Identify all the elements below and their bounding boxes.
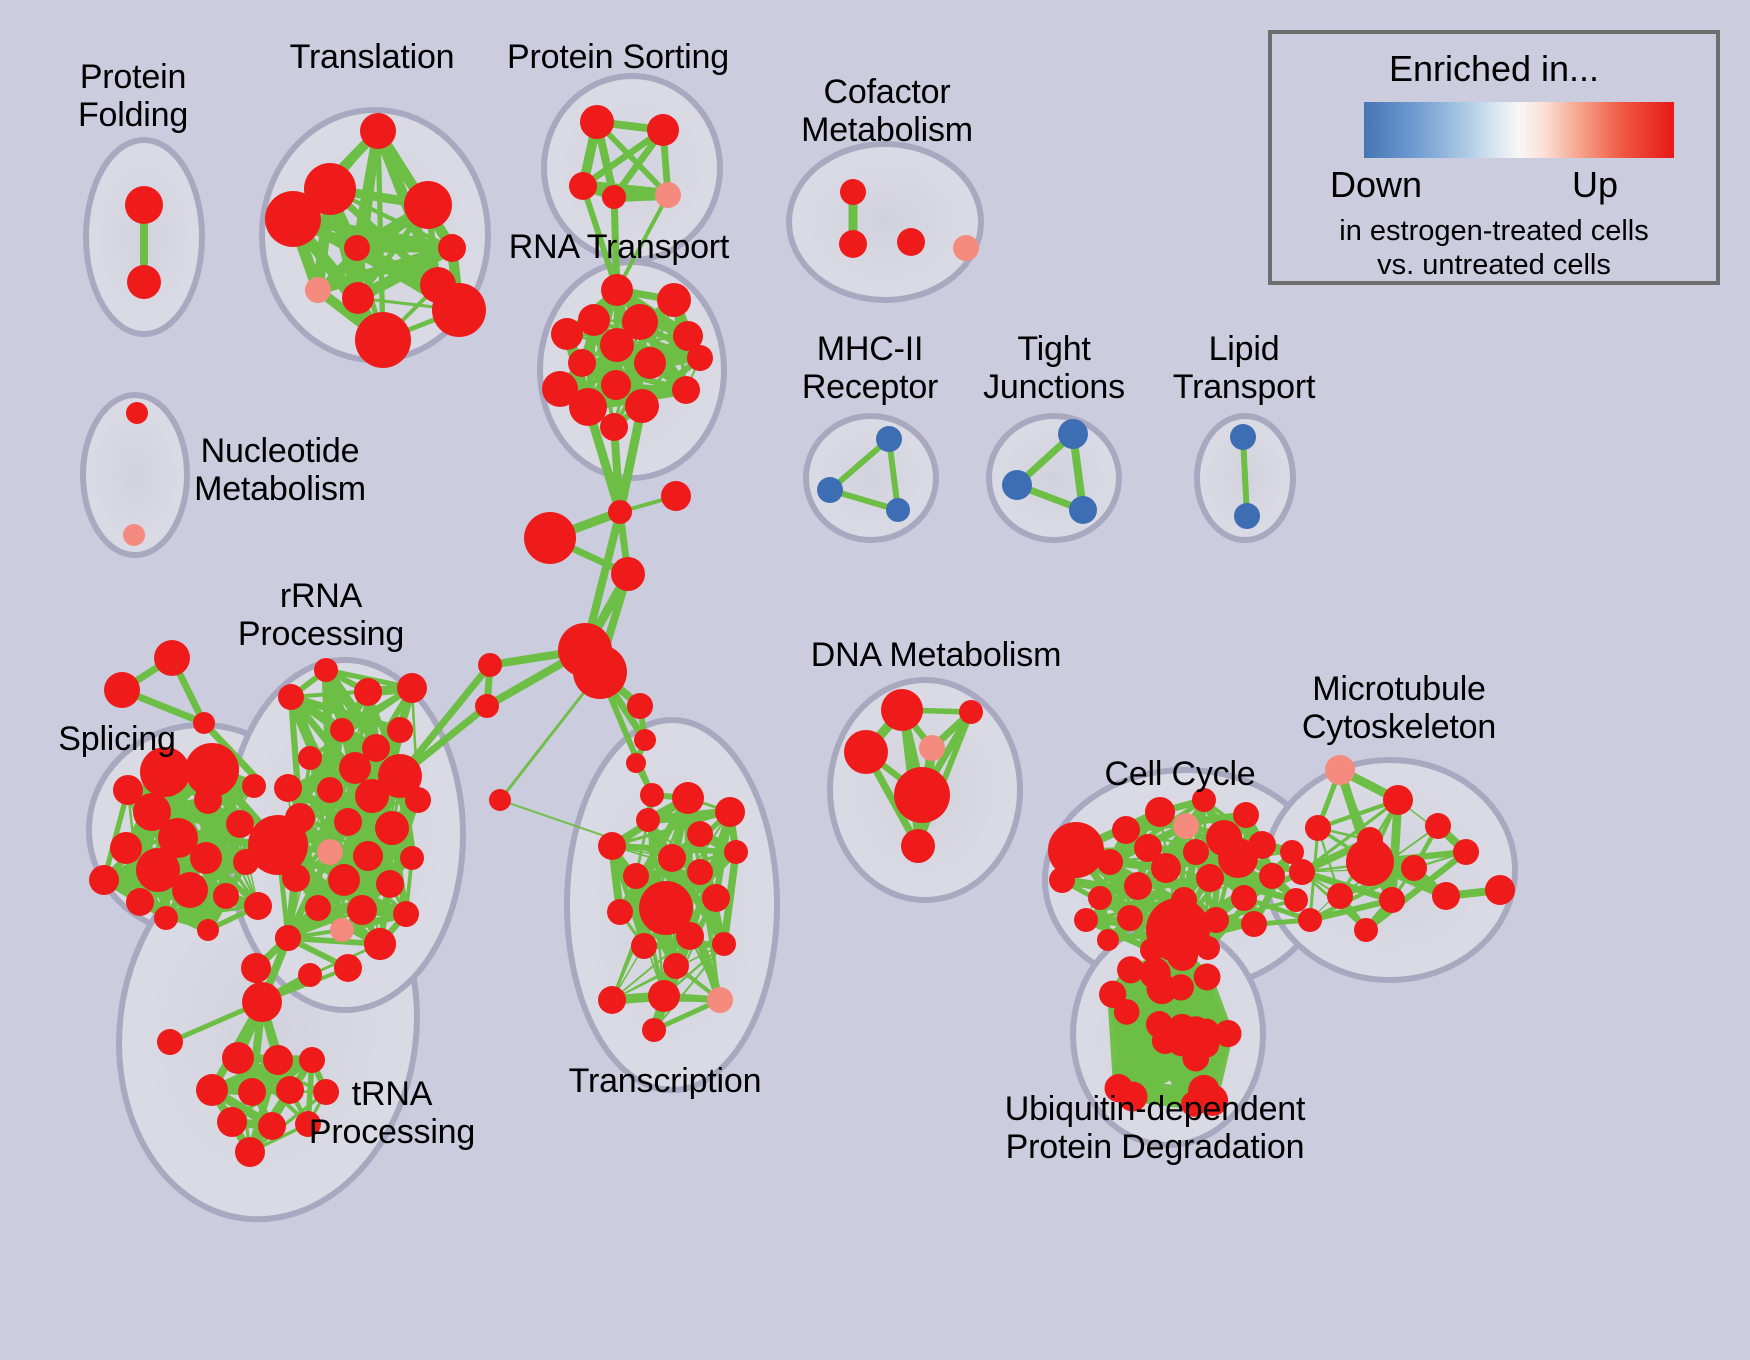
gene-set-node	[687, 345, 713, 371]
gene-set-node	[648, 980, 680, 1012]
gene-set-node	[355, 312, 411, 368]
gene-set-node	[598, 832, 626, 860]
gene-set-node	[244, 892, 272, 920]
gene-set-node	[568, 349, 596, 377]
cluster-label-lipid-transport: Lipid Transport	[1173, 330, 1315, 406]
gene-set-node	[707, 987, 733, 1013]
gene-set-node	[627, 693, 653, 719]
gene-set-node	[601, 370, 631, 400]
gene-set-node	[89, 865, 119, 895]
gene-set-node	[573, 645, 627, 699]
gene-set-node	[919, 735, 945, 761]
gene-set-node	[397, 673, 427, 703]
gene-set-node	[226, 810, 254, 838]
gene-set-node	[897, 228, 925, 256]
gene-set-node	[1327, 883, 1353, 909]
cluster-label-trna-processing: tRNA Processing	[309, 1075, 475, 1151]
gene-set-node	[404, 181, 452, 229]
gene-set-node	[1058, 419, 1088, 449]
gene-set-node	[193, 712, 215, 734]
gene-set-node	[274, 774, 302, 802]
gene-set-node	[1151, 853, 1181, 883]
gene-set-node	[334, 808, 362, 836]
gene-set-node	[154, 906, 178, 930]
legend-up-label: Up	[1572, 164, 1618, 206]
gene-set-node	[661, 481, 691, 511]
cluster-label-protein-folding: Protein Folding	[78, 58, 188, 134]
gene-set-node	[1145, 797, 1175, 827]
gene-set-node	[400, 846, 424, 870]
gene-set-node	[647, 114, 679, 146]
gene-set-node	[817, 477, 843, 503]
gene-set-node	[375, 811, 409, 845]
gene-set-node	[1117, 956, 1144, 983]
gene-set-node	[578, 304, 610, 336]
gene-set-node	[317, 839, 343, 865]
gene-set-node	[1074, 908, 1098, 932]
gene-set-node	[353, 841, 383, 871]
gene-set-node	[658, 844, 686, 872]
cluster-label-nucleotide-metabolism: Nucleotide Metabolism	[194, 432, 366, 508]
gene-set-node	[314, 658, 338, 682]
gene-set-node	[1097, 849, 1123, 875]
gene-set-node	[238, 1078, 266, 1106]
gene-set-node	[364, 928, 396, 960]
cluster-hull-cofactor-metabolism	[789, 144, 981, 300]
cluster-label-cofactor-metabolism: Cofactor Metabolism	[801, 73, 973, 149]
gene-set-node	[687, 859, 713, 885]
gene-set-node	[376, 870, 404, 898]
gene-set-node	[894, 767, 950, 823]
gene-set-node	[241, 953, 271, 983]
gene-set-node	[213, 883, 239, 909]
figure-canvas: Protein FoldingTranslationProtein Sortin…	[0, 0, 1750, 1360]
gene-set-node	[258, 1112, 286, 1140]
gene-set-node	[1289, 859, 1315, 885]
gene-set-node	[901, 829, 935, 863]
gene-set-node	[844, 730, 888, 774]
gene-set-node	[354, 678, 382, 706]
gene-set-node	[1049, 867, 1075, 893]
gene-set-node	[625, 389, 659, 423]
cluster-label-dna-metabolism: DNA Metabolism	[811, 636, 1061, 674]
cluster-label-cell-cycle: Cell Cycle	[1104, 755, 1255, 793]
gene-set-node	[1194, 1019, 1219, 1044]
gene-set-node	[432, 283, 486, 337]
gene-set-node	[360, 113, 396, 149]
gene-set-node	[1167, 940, 1198, 971]
gene-set-node	[580, 105, 614, 139]
gene-set-node	[1346, 838, 1394, 886]
gene-set-node	[1379, 887, 1405, 913]
gene-set-node	[524, 512, 576, 564]
gene-set-node	[1425, 813, 1451, 839]
gene-set-node	[1231, 885, 1257, 911]
gene-set-node	[631, 933, 657, 959]
gene-set-node	[298, 746, 322, 770]
gene-set-node	[1432, 882, 1460, 910]
gene-set-node	[1194, 964, 1221, 991]
legend-box: Enriched in... Down Up in estrogen-treat…	[1268, 30, 1720, 285]
gene-set-node	[569, 388, 607, 426]
gene-set-node	[275, 925, 301, 951]
cluster-label-microtubule-cytoskeleton: Microtubule Cytoskeleton	[1302, 670, 1496, 746]
gene-set-node	[1173, 813, 1199, 839]
gene-set-node	[663, 953, 689, 979]
cluster-label-protein-sorting: Protein Sorting	[507, 38, 729, 76]
gene-set-node	[1147, 973, 1178, 1004]
gene-set-node	[1203, 907, 1229, 933]
gene-set-node	[194, 786, 222, 814]
gene-set-node	[126, 402, 148, 424]
gene-set-node	[278, 684, 304, 710]
gene-set-node	[1183, 839, 1209, 865]
gene-set-node	[611, 557, 645, 591]
gene-set-node	[339, 752, 371, 784]
gene-set-node	[154, 640, 190, 676]
gene-set-node	[642, 1018, 666, 1042]
gene-set-node	[886, 498, 910, 522]
gene-set-node	[1196, 936, 1220, 960]
gene-set-node	[342, 282, 374, 314]
gene-set-node	[347, 895, 377, 925]
legend-subtitle: in estrogen-treated cells vs. untreated …	[1272, 214, 1716, 282]
gene-set-node	[110, 832, 142, 864]
gene-set-node	[953, 235, 979, 261]
gene-set-node	[344, 235, 370, 261]
gene-set-node	[242, 982, 282, 1022]
cluster-label-splicing: Splicing	[58, 720, 175, 758]
gene-set-node	[1241, 911, 1267, 937]
gene-set-node	[881, 689, 923, 731]
gene-set-node	[126, 888, 154, 916]
gene-set-node	[1088, 886, 1112, 910]
gene-set-node	[393, 901, 419, 927]
gene-set-node	[242, 774, 266, 798]
legend-title: Enriched in...	[1272, 48, 1716, 90]
gene-set-node	[1117, 905, 1143, 931]
gene-set-node	[387, 717, 413, 743]
gene-set-node	[1002, 470, 1032, 500]
gene-set-node	[600, 413, 628, 441]
legend-color-gradient-bar	[1364, 102, 1674, 158]
gene-set-node	[839, 230, 867, 258]
gene-set-node	[672, 376, 700, 404]
gene-set-node	[1097, 929, 1119, 951]
gene-set-node	[840, 179, 866, 205]
gene-set-node	[355, 779, 389, 813]
gene-set-node	[172, 872, 208, 908]
cluster-label-tight-junctions: Tight Junctions	[983, 330, 1125, 406]
cluster-label-rrna-processing: rRNA Processing	[238, 577, 404, 653]
gene-set-node	[634, 729, 656, 751]
gene-set-node	[636, 808, 660, 832]
cluster-label-ubiquitin-degradation: Ubiquitin-dependent Protein Degradation	[1005, 1090, 1306, 1166]
gene-set-node	[1259, 863, 1285, 889]
gene-set-node	[478, 653, 502, 677]
gene-set-node	[640, 783, 664, 807]
gene-set-node	[657, 283, 691, 317]
gene-set-node	[623, 863, 649, 889]
gene-set-node	[217, 1107, 247, 1137]
gene-set-node	[1284, 888, 1308, 912]
legend-down-label: Down	[1330, 164, 1422, 206]
gene-set-node	[263, 1045, 293, 1075]
gene-set-node	[626, 753, 646, 773]
gene-set-node	[1305, 815, 1331, 841]
gene-set-node	[724, 840, 748, 864]
gene-set-node	[330, 918, 354, 942]
gene-set-node	[317, 777, 343, 803]
gene-set-node	[1230, 424, 1256, 450]
gene-set-node	[876, 426, 902, 452]
gene-set-node	[282, 864, 310, 892]
gene-set-node	[598, 986, 626, 1014]
gene-set-node	[489, 789, 511, 811]
gene-set-node	[305, 277, 331, 303]
gene-set-node	[104, 672, 140, 708]
gene-set-node	[672, 782, 704, 814]
gene-set-node	[127, 265, 161, 299]
gene-set-node	[196, 1074, 228, 1106]
gene-set-node	[687, 821, 713, 847]
gene-set-node	[197, 919, 219, 941]
cluster-label-translation: Translation	[290, 38, 455, 76]
gene-set-node	[1167, 1026, 1197, 1056]
gene-set-node	[1383, 785, 1413, 815]
gene-set-node	[1234, 503, 1260, 529]
gene-set-node	[1298, 908, 1322, 932]
gene-set-node	[569, 172, 597, 200]
cluster-label-transcription: Transcription	[569, 1062, 762, 1100]
gene-set-node	[125, 186, 163, 224]
gene-set-node	[1124, 872, 1152, 900]
gene-set-node	[712, 932, 736, 956]
gene-set-node	[1485, 875, 1515, 905]
gene-set-node	[123, 524, 145, 546]
gene-set-node	[330, 718, 354, 742]
gene-set-node	[634, 347, 666, 379]
gene-set-node	[276, 1076, 304, 1104]
gene-set-node	[157, 1029, 183, 1055]
gene-set-node	[265, 191, 321, 247]
gene-set-node	[334, 954, 362, 982]
gene-set-node	[702, 884, 730, 912]
gene-set-node	[1218, 838, 1258, 878]
gene-set-node	[298, 963, 322, 987]
gene-set-node	[405, 787, 431, 813]
gene-set-node	[299, 1047, 325, 1073]
gene-set-node	[601, 274, 633, 306]
gene-set-node	[438, 234, 466, 262]
gene-set-node	[602, 185, 626, 209]
gene-set-node	[1325, 755, 1355, 785]
gene-set-node	[1354, 918, 1378, 942]
gene-set-node	[600, 328, 634, 362]
edge	[1392, 800, 1398, 900]
cluster-label-rna-transport: RNA Transport	[509, 228, 729, 266]
gene-set-node	[222, 1042, 254, 1074]
gene-set-node	[1233, 802, 1259, 828]
gene-set-node	[235, 1137, 265, 1167]
gene-set-node	[1114, 999, 1140, 1025]
cluster-label-mhc-ii-receptor: MHC-II Receptor	[802, 330, 938, 406]
gene-set-node	[1401, 855, 1427, 881]
gene-set-node	[676, 922, 704, 950]
gene-set-node	[608, 500, 632, 524]
gene-set-node	[328, 864, 360, 896]
gene-set-node	[1453, 839, 1479, 865]
gene-set-node	[1069, 496, 1097, 524]
gene-set-node	[655, 182, 681, 208]
gene-set-node	[551, 318, 583, 350]
gene-set-node	[475, 694, 499, 718]
gene-set-node	[305, 895, 331, 921]
gene-set-node	[1196, 864, 1224, 892]
gene-set-node	[1112, 816, 1140, 844]
gene-set-node	[959, 700, 983, 724]
gene-set-node	[715, 797, 745, 827]
gene-set-node	[190, 842, 222, 874]
gene-set-node	[607, 899, 633, 925]
